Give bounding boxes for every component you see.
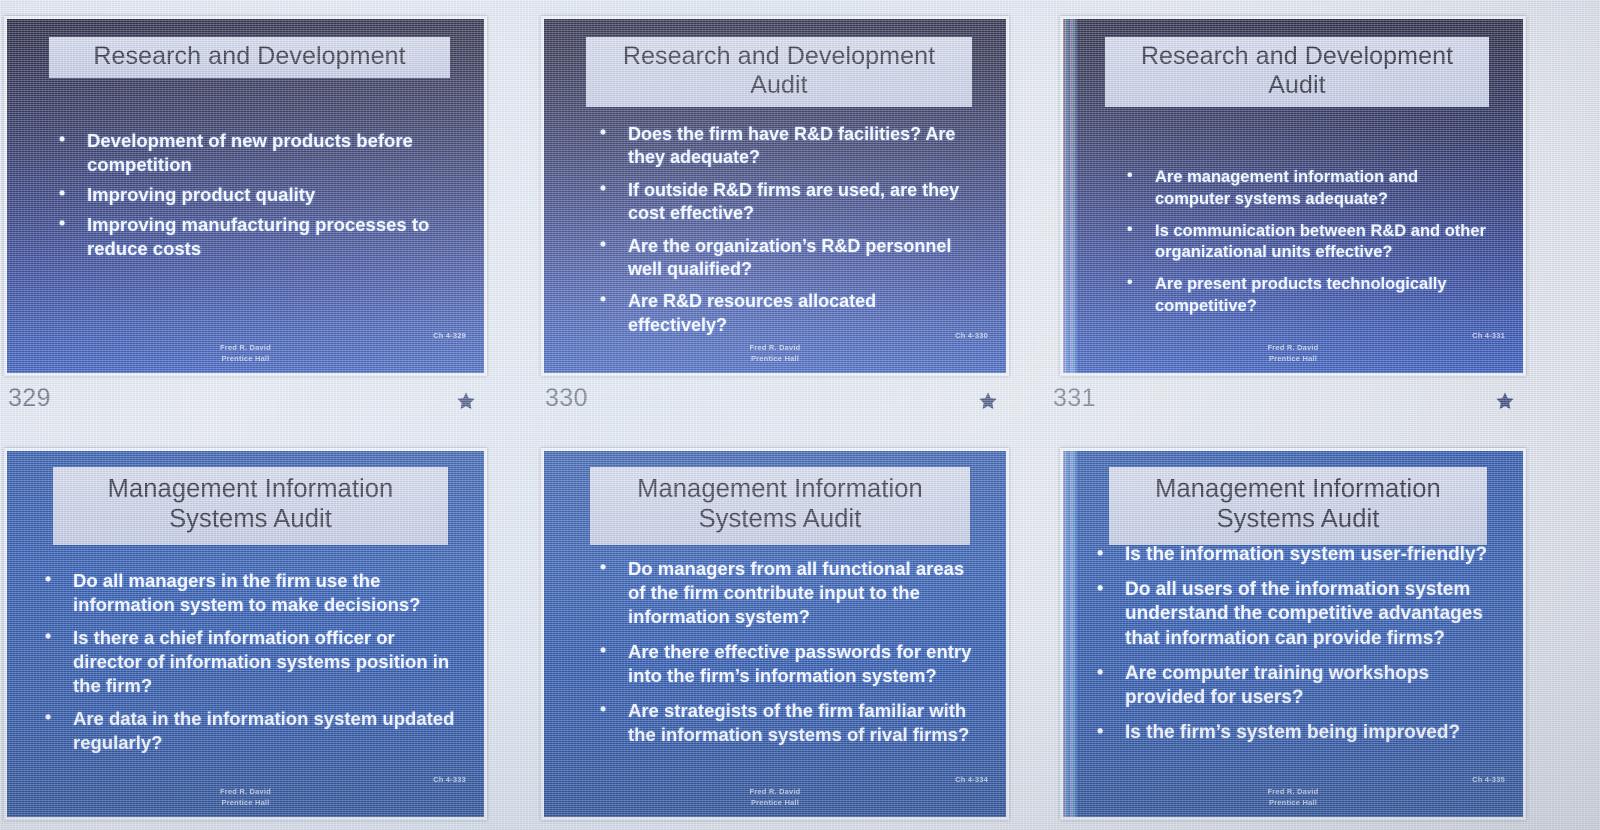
bullet-item: Is the information system user-friendly? [1089, 543, 1503, 568]
slide-caption-334 [541, 826, 1009, 830]
credit-block-330: Fred R. David Prentice Hall [544, 343, 1006, 365]
credit-publisher: Prentice Hall [7, 354, 484, 365]
credit-publisher: Prentice Hall [544, 798, 1006, 809]
slide-number-329: 329 [8, 384, 51, 413]
slide-cell-331[interactable]: Research and Development Audit Are manag… [1060, 16, 1526, 422]
slide-thumbnail-331[interactable]: Research and Development Audit Are manag… [1060, 16, 1526, 376]
bullet-item: Are there effective passwords for entry … [592, 640, 984, 688]
credit-publisher: Prentice Hall [1063, 354, 1523, 365]
bullet-item: Do managers from all functional areas of… [592, 557, 984, 629]
slide-caption-335 [1060, 826, 1526, 830]
star-icon[interactable] [1494, 390, 1516, 412]
bullet-item: Are the organization’s R&D personnel wel… [592, 235, 976, 282]
slide-canvas-330: Research and Development Audit Does the … [544, 19, 1006, 373]
slide-title-331: Research and Development Audit [1105, 37, 1489, 107]
slide-bullets-330: Does the firm have R&D facilities? Are t… [592, 123, 976, 346]
slide-canvas-331: Research and Development Audit Are manag… [1063, 19, 1523, 373]
slide-caption-333 [4, 826, 487, 830]
credit-block-329: Fred R. David Prentice Hall [7, 343, 484, 365]
credit-author: Fred R. David [7, 787, 484, 798]
bullet-item: Is there a chief information officer or … [37, 626, 460, 698]
slide-cell-333[interactable]: Management Information Systems Audit Do … [4, 448, 487, 830]
slide-caption-329: 329 [4, 382, 487, 422]
slide-grid: Research and Development Development of … [0, 0, 1600, 830]
credit-author: Fred R. David [544, 343, 1006, 354]
star-icon[interactable] [977, 390, 999, 412]
bullet-item: If outside R&D firms are used, are they … [592, 179, 976, 226]
bullet-item: Are strategists of the firm familiar wit… [592, 699, 984, 747]
slide-canvas-334: Management Information Systems Audit Do … [544, 451, 1006, 817]
slide-cell-330[interactable]: Research and Development Audit Does the … [541, 16, 1009, 422]
bullet-item: Improving product quality [51, 183, 450, 207]
star-icon[interactable] [455, 390, 477, 412]
slide-cell-329[interactable]: Research and Development Development of … [4, 16, 487, 422]
bullet-item: Development of new products before compe… [51, 129, 450, 177]
slide-title-334: Management Information Systems Audit [590, 467, 970, 545]
bullet-item: Are data in the information system updat… [37, 707, 460, 755]
credit-block-334: Fred R. David Prentice Hall [544, 787, 1006, 809]
slide-number-331: 331 [1053, 384, 1096, 413]
slide-title-330: Research and Development Audit [586, 37, 972, 107]
slide-thumbnail-330[interactable]: Research and Development Audit Does the … [541, 16, 1009, 376]
slide-canvas-333: Management Information Systems Audit Do … [7, 451, 484, 817]
slide-thumbnail-334[interactable]: Management Information Systems Audit Do … [541, 448, 1009, 820]
slide-bullets-329: Development of new products before compe… [51, 129, 450, 267]
slide-thumbnail-335[interactable]: Management Information Systems Audit Is … [1060, 448, 1526, 820]
bullet-item: Is communication between R&D and other o… [1119, 221, 1497, 265]
bullet-item: Is the firm’s system being improved? [1089, 721, 1503, 746]
slide-bullets-334: Do managers from all functional areas of… [592, 557, 984, 758]
slide-number-330: 330 [545, 384, 588, 413]
credit-author: Fred R. David [544, 787, 1006, 798]
bullet-item: Do all managers in the firm use the info… [37, 569, 460, 617]
slide-canvas-335: Management Information Systems Audit Is … [1063, 451, 1523, 817]
slide-bullets-335: Is the information system user-friendly?… [1089, 543, 1503, 756]
chapter-tag-331: Ch 4-331 [1472, 331, 1505, 340]
slide-thumbnail-333[interactable]: Management Information Systems Audit Do … [4, 448, 487, 820]
bullet-item: Do all users of the information system u… [1089, 578, 1503, 652]
slide-title-329: Research and Development [49, 37, 450, 78]
chapter-tag-329: Ch 4-329 [433, 331, 466, 340]
bullet-item: Are management information and computer … [1119, 167, 1497, 211]
credit-author: Fred R. David [1063, 343, 1523, 354]
chapter-tag-333: Ch 4-333 [433, 775, 466, 784]
bullet-item: Are computer training workshops provided… [1089, 662, 1503, 711]
slide-caption-331: 331 [1060, 382, 1526, 422]
bullet-item: Does the firm have R&D facilities? Are t… [592, 123, 976, 170]
slide-title-333: Management Information Systems Audit [53, 467, 448, 545]
chapter-tag-330: Ch 4-330 [955, 331, 988, 340]
slide-cell-334[interactable]: Management Information Systems Audit Do … [541, 448, 1009, 830]
slide-grid-screen: Research and Development Development of … [0, 0, 1600, 830]
bullet-item: Are present products technologically com… [1119, 274, 1497, 318]
chapter-tag-334: Ch 4-334 [955, 775, 988, 784]
screen-moire-artifact [1063, 451, 1077, 817]
credit-publisher: Prentice Hall [544, 354, 1006, 365]
screen-moire-artifact [1063, 19, 1077, 373]
credit-publisher: Prentice Hall [1063, 798, 1523, 809]
slide-thumbnail-329[interactable]: Research and Development Development of … [4, 16, 487, 376]
chapter-tag-335: Ch 4-335 [1472, 775, 1505, 784]
slide-canvas-329: Research and Development Development of … [7, 19, 484, 373]
credit-author: Fred R. David [1063, 787, 1523, 798]
credit-publisher: Prentice Hall [7, 798, 484, 809]
credit-author: Fred R. David [7, 343, 484, 354]
slide-title-335: Management Information Systems Audit [1109, 467, 1487, 545]
credit-block-333: Fred R. David Prentice Hall [7, 787, 484, 809]
slide-caption-330: 330 [541, 382, 1009, 422]
slide-cell-335[interactable]: Management Information Systems Audit Is … [1060, 448, 1526, 830]
slide-bullets-331: Are management information and computer … [1119, 167, 1497, 328]
bullet-item: Improving manufacturing processes to red… [51, 213, 450, 261]
credit-block-331: Fred R. David Prentice Hall [1063, 343, 1523, 365]
bullet-item: Are R&D resources allocated effectively? [592, 290, 976, 337]
slide-bullets-333: Do all managers in the firm use the info… [37, 569, 460, 764]
credit-block-335: Fred R. David Prentice Hall [1063, 787, 1523, 809]
